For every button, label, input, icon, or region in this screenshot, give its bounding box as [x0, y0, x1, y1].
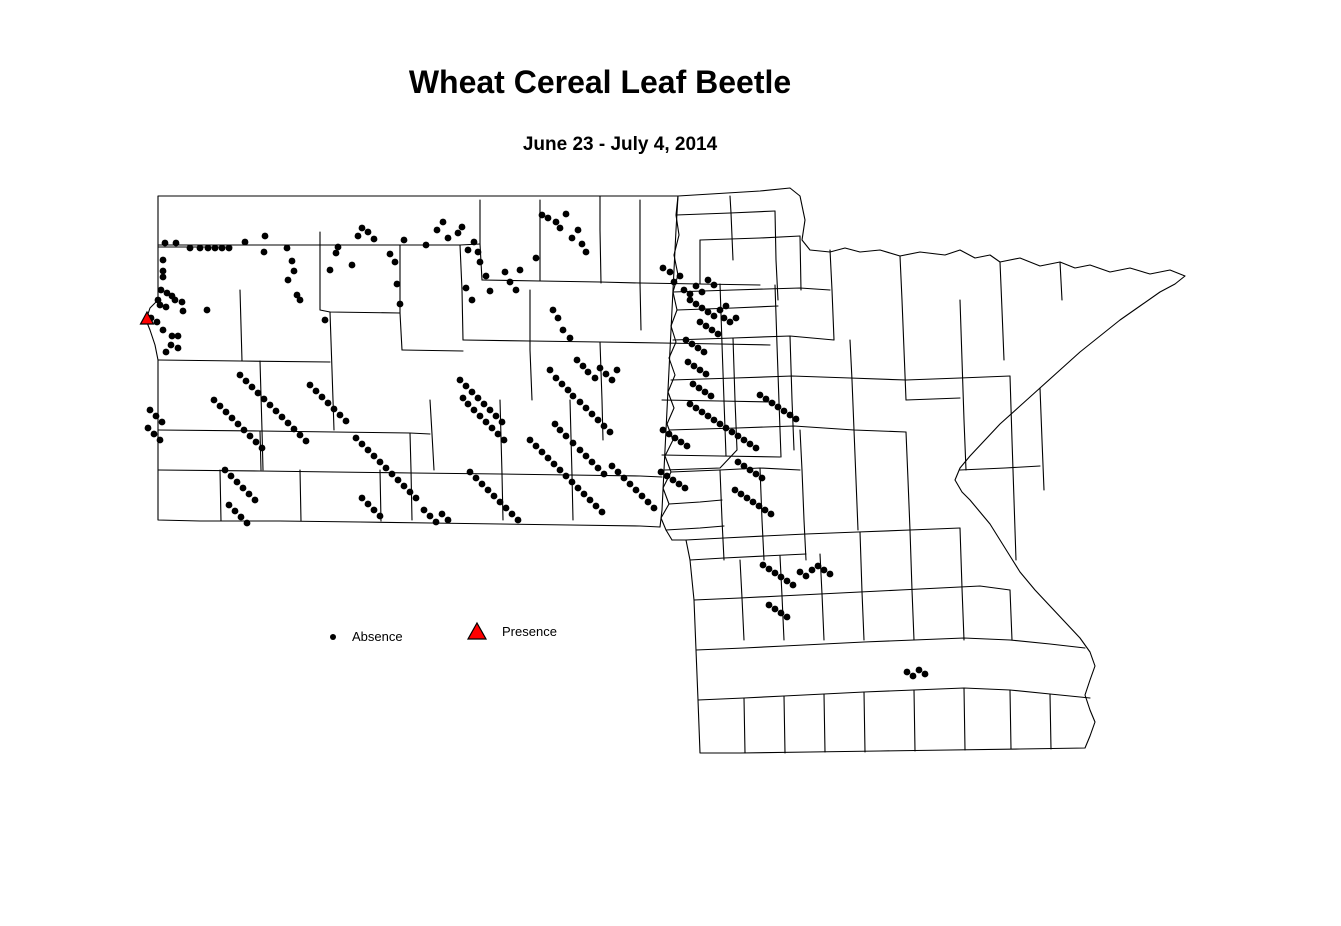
absence-marker — [371, 453, 378, 460]
map-graphic — [0, 0, 1341, 926]
absence-marker — [658, 469, 665, 476]
absence-marker — [587, 497, 594, 504]
absence-marker — [575, 227, 582, 234]
absence-marker — [423, 242, 430, 249]
absence-marker — [601, 471, 608, 478]
absence-marker — [475, 249, 482, 256]
absence-marker — [693, 405, 700, 412]
absence-marker — [285, 420, 292, 427]
absence-marker — [705, 277, 712, 284]
absence-marker — [502, 269, 509, 276]
absence-marker — [709, 327, 716, 334]
absence-marker — [585, 369, 592, 376]
absence-marker — [285, 277, 292, 284]
absence-marker — [570, 393, 577, 400]
absence-marker — [173, 240, 180, 247]
absence-marker — [759, 475, 766, 482]
absence-marker — [735, 433, 742, 440]
absence-marker — [503, 505, 510, 512]
absence-marker — [349, 262, 356, 269]
absence-marker — [371, 507, 378, 514]
absence-marker — [671, 279, 678, 286]
absence-marker — [732, 487, 739, 494]
absence-marker — [552, 421, 559, 428]
absence-marker — [234, 479, 241, 486]
absence-marker — [353, 435, 360, 442]
absence-marker — [569, 479, 576, 486]
absence-marker — [715, 331, 722, 338]
absence-marker — [169, 333, 176, 340]
presence-legend-icon — [466, 620, 488, 642]
absence-marker — [154, 319, 161, 326]
absence-marker — [168, 342, 175, 349]
absence-marker — [681, 287, 688, 294]
absence-marker — [705, 309, 712, 316]
absence-marker — [237, 372, 244, 379]
absence-marker — [589, 411, 596, 418]
absence-marker — [471, 407, 478, 414]
absence-marker — [570, 440, 577, 447]
absence-legend-icon — [330, 634, 336, 640]
absence-marker — [579, 241, 586, 248]
absence-marker — [211, 397, 218, 404]
absence-marker — [727, 319, 734, 326]
absence-marker — [205, 245, 212, 252]
absence-marker — [459, 224, 466, 231]
absence-marker — [784, 614, 791, 621]
absence-marker — [160, 327, 167, 334]
absence-marker — [527, 437, 534, 444]
absence-marker — [175, 333, 182, 340]
absence-marker — [235, 421, 242, 428]
absence-marker — [160, 274, 167, 281]
absence-marker — [463, 383, 470, 390]
map-canvas[interactable]: Absence Presence — [0, 0, 1341, 926]
state-county-outlines — [146, 188, 1185, 753]
absence-marker — [684, 443, 691, 450]
absence-marker — [545, 215, 552, 222]
absence-marker — [651, 505, 658, 512]
absence-marker — [469, 389, 476, 396]
absence-marker — [741, 437, 748, 444]
absence-marker — [229, 415, 236, 422]
absence-marker — [440, 219, 447, 226]
absence-marker — [583, 405, 590, 412]
absence-marker — [371, 236, 378, 243]
absence-marker — [355, 233, 362, 240]
absence-marker — [551, 461, 558, 468]
absence-marker — [395, 477, 402, 484]
absence-marker — [703, 371, 710, 378]
absence-marker — [778, 610, 785, 617]
absence-marker — [910, 673, 917, 680]
absence-marker — [664, 473, 671, 480]
absence-marker — [567, 335, 574, 342]
absence-marker — [160, 257, 167, 264]
absence-marker — [471, 239, 478, 246]
absence-marker — [533, 443, 540, 450]
absence-marker — [279, 414, 286, 421]
absence-marker — [493, 413, 500, 420]
absence-marker — [575, 485, 582, 492]
absence-marker — [555, 315, 562, 322]
absence-marker — [273, 408, 280, 415]
absence-marker — [153, 413, 160, 420]
absence-marker — [699, 289, 706, 296]
absence-marker — [297, 432, 304, 439]
absence-marker — [645, 499, 652, 506]
absence-marker — [577, 399, 584, 406]
absence-marker — [465, 401, 472, 408]
absence-marker — [678, 439, 685, 446]
absence-marker — [603, 371, 610, 378]
absence-marker — [565, 387, 572, 394]
absence-marker — [377, 459, 384, 466]
absence-marker — [696, 385, 703, 392]
absence-marker — [487, 288, 494, 295]
absence-marker — [589, 459, 596, 466]
absence-marker — [723, 303, 730, 310]
absence-marker — [481, 401, 488, 408]
absence-marker — [247, 433, 254, 440]
absence-marker — [747, 441, 754, 448]
absence-marker — [563, 211, 570, 218]
absence-marker — [475, 395, 482, 402]
absence-marker — [601, 423, 608, 430]
absence-marker — [455, 230, 462, 237]
absence-marker — [711, 282, 718, 289]
absence-marker — [772, 570, 779, 577]
absence-marker — [689, 341, 696, 348]
absence-marker — [243, 378, 250, 385]
absence-marker — [539, 212, 546, 219]
absence-marker — [477, 413, 484, 420]
absence-marker — [359, 225, 366, 232]
absence-marker — [485, 487, 492, 494]
absence-marker — [255, 390, 262, 397]
absence-marker — [760, 562, 767, 569]
absence-marker — [711, 313, 718, 320]
absence-marker — [593, 503, 600, 510]
absence-marker — [741, 463, 748, 470]
absence-marker — [427, 513, 434, 520]
absence-marker — [708, 393, 715, 400]
absence-marker — [327, 267, 334, 274]
absence-marker — [241, 427, 248, 434]
absence-marker — [495, 431, 502, 438]
absence-marker — [489, 425, 496, 432]
absence-marker — [158, 287, 165, 294]
absence-marker — [469, 297, 476, 304]
absence-marker — [775, 404, 782, 411]
absence-marker — [473, 475, 480, 482]
absence-marker — [377, 513, 384, 520]
absence-marker — [703, 323, 710, 330]
absence-marker — [827, 571, 834, 578]
absence-marker — [711, 417, 718, 424]
absence-marker — [660, 427, 667, 434]
absence-marker — [768, 511, 775, 518]
absence-marker — [497, 499, 504, 506]
absence-marker — [735, 459, 742, 466]
absence-marker — [778, 574, 785, 581]
absence-marker — [262, 233, 269, 240]
absence-marker — [756, 503, 763, 510]
absence-marker — [365, 229, 372, 236]
absence-marker — [592, 375, 599, 382]
absence-marker — [219, 245, 226, 252]
absence-marker — [179, 299, 186, 306]
absence-marker — [553, 375, 560, 382]
absence-marker — [609, 463, 616, 470]
absence-marker — [557, 467, 564, 474]
absence-marker — [557, 427, 564, 434]
absence-marker — [701, 349, 708, 356]
absence-marker — [699, 409, 706, 416]
absence-marker — [627, 481, 634, 488]
absence-marker — [187, 245, 194, 252]
absence-marker — [705, 413, 712, 420]
absence-marker — [337, 412, 344, 419]
absence-marker — [766, 602, 773, 609]
absence-marker — [226, 502, 233, 509]
absence-marker — [693, 301, 700, 308]
absence-marker — [595, 465, 602, 472]
absence-marker — [307, 382, 314, 389]
absence-marker — [162, 240, 169, 247]
absence-marker — [580, 363, 587, 370]
absence-marker — [557, 225, 564, 232]
absence-marker — [738, 491, 745, 498]
absence-marker — [685, 359, 692, 366]
absence-marker — [259, 445, 266, 452]
absence-marker — [434, 227, 441, 234]
absence-marker — [677, 273, 684, 280]
absence-marker — [479, 481, 486, 488]
absence-marker — [333, 250, 340, 257]
absence-marker — [483, 419, 490, 426]
absence-marker — [217, 403, 224, 410]
absence-marker — [787, 412, 794, 419]
absence-marker — [483, 273, 490, 280]
absence-marker — [401, 483, 408, 490]
absence-marker — [222, 467, 229, 474]
absence-marker — [487, 407, 494, 414]
absence-marker — [721, 315, 728, 322]
absence-marker — [750, 499, 757, 506]
absence-marker — [747, 467, 754, 474]
absence-marker — [784, 578, 791, 585]
absence-marker — [615, 469, 622, 476]
absence-marker — [691, 363, 698, 370]
absence-marker — [457, 377, 464, 384]
absence-marker — [147, 407, 154, 414]
absence-marker — [672, 435, 679, 442]
absence-marker — [821, 567, 828, 574]
absence-marker — [325, 400, 332, 407]
absence-marker — [545, 455, 552, 462]
absence-marker — [815, 563, 822, 570]
absence-marker — [683, 337, 690, 344]
absence-marker — [501, 437, 508, 444]
absence-marker — [583, 249, 590, 256]
absence-marker — [157, 437, 164, 444]
absence-marker — [702, 389, 709, 396]
absence-marker — [577, 447, 584, 454]
absence-marker — [151, 431, 158, 438]
absence-marker — [803, 573, 810, 580]
absence-marker — [609, 377, 616, 384]
absence-marker — [733, 315, 740, 322]
absence-marker — [297, 297, 304, 304]
absence-marker — [513, 287, 520, 294]
absence-marker — [781, 408, 788, 415]
absence-marker — [693, 283, 700, 290]
absence-marker — [477, 259, 484, 266]
absence-marker — [465, 247, 472, 254]
absence-marker — [359, 495, 366, 502]
absence-marker — [232, 508, 239, 515]
absence-marker — [421, 507, 428, 514]
absence-marker — [267, 402, 274, 409]
absence-marker — [763, 396, 770, 403]
absence-marker — [445, 235, 452, 242]
absence-marker — [699, 305, 706, 312]
absence-marker — [331, 406, 338, 413]
absence-marker — [180, 308, 187, 315]
absence-marker — [559, 381, 566, 388]
absence-marker — [392, 259, 399, 266]
absence-marker — [172, 297, 179, 304]
absence-marker — [159, 419, 166, 426]
absence-marker — [413, 495, 420, 502]
absence-marker — [163, 304, 170, 311]
presence-legend-label: Presence — [502, 624, 557, 639]
absence-marker — [717, 421, 724, 428]
absence-marker — [922, 671, 929, 678]
absence-marker — [687, 291, 694, 298]
absence-marker — [291, 426, 298, 433]
absence-marker — [261, 249, 268, 256]
absence-marker — [433, 519, 440, 526]
absence-marker — [242, 239, 249, 246]
absence-marker — [676, 481, 683, 488]
absence-marker — [723, 425, 730, 432]
absence-marker — [261, 396, 268, 403]
absence-marker — [491, 493, 498, 500]
absence-marker — [744, 495, 751, 502]
absence-marker — [335, 244, 342, 251]
absence-marker — [904, 669, 911, 676]
absence-marker — [160, 268, 167, 275]
absence-marker — [633, 487, 640, 494]
absence-marker — [687, 401, 694, 408]
absence-marker — [319, 394, 326, 401]
absence-marker — [687, 297, 694, 304]
absence-marker — [383, 465, 390, 472]
absence-marker — [509, 511, 516, 518]
absence-marker — [547, 367, 554, 374]
absence-marker — [717, 307, 724, 314]
absence-marker — [563, 433, 570, 440]
absence-marker — [157, 302, 164, 309]
absence-marker — [597, 365, 604, 372]
absence-marker — [387, 251, 394, 258]
absence-marker — [313, 388, 320, 395]
absence-marker — [244, 520, 251, 527]
absence-marker — [560, 327, 567, 334]
absence-marker — [533, 255, 540, 262]
absence-marker — [175, 345, 182, 352]
absence-marker — [467, 469, 474, 476]
absence-marker — [621, 475, 628, 482]
absence-marker — [253, 439, 260, 446]
absence-marker — [252, 497, 259, 504]
absence-marker — [507, 279, 514, 286]
absence-marker — [163, 349, 170, 356]
absence-marker — [793, 416, 800, 423]
absence-marker — [666, 431, 673, 438]
absence-marker — [599, 509, 606, 516]
absence-marker — [539, 449, 546, 456]
absence-marker — [607, 429, 614, 436]
absence-marker — [553, 219, 560, 226]
absence-marker — [667, 269, 674, 276]
absence-marker — [322, 317, 329, 324]
absence-marker — [397, 301, 404, 308]
absence-marker — [729, 429, 736, 436]
absence-marker — [343, 418, 350, 425]
absence-marker — [797, 569, 804, 576]
absence-marker — [670, 477, 677, 484]
absence-marker — [284, 245, 291, 252]
absence-marker — [517, 267, 524, 274]
absence-marker — [212, 245, 219, 252]
absence-marker — [515, 517, 522, 524]
absence-marker — [226, 245, 233, 252]
absence-marker — [389, 471, 396, 478]
absence-marker — [445, 517, 452, 524]
absence-marker — [695, 345, 702, 352]
absence-marker — [639, 493, 646, 500]
absence-marker — [790, 582, 797, 589]
absence-marker — [246, 491, 253, 498]
absence-marker — [291, 268, 298, 275]
absence-marker — [401, 237, 408, 244]
map-page: Wheat Cereal Leaf Beetle June 23 - July … — [0, 0, 1341, 926]
absence-marker — [753, 445, 760, 452]
absence-marker — [563, 473, 570, 480]
absence-legend-label: Absence — [352, 629, 403, 644]
absence-marker — [753, 471, 760, 478]
absence-marker — [407, 489, 414, 496]
absence-marker — [660, 265, 667, 272]
absence-marker — [240, 485, 247, 492]
absence-marker — [757, 392, 764, 399]
absence-marker — [439, 511, 446, 518]
absence-marker — [690, 381, 697, 388]
absence-marker — [772, 606, 779, 613]
absence-marker — [595, 417, 602, 424]
absence-marker — [394, 281, 401, 288]
absence-marker — [249, 384, 256, 391]
absence-marker — [697, 367, 704, 374]
absence-marker — [197, 245, 204, 252]
absence-marker — [289, 258, 296, 265]
absence-marker — [569, 235, 576, 242]
absence-marker — [228, 473, 235, 480]
absence-marker — [550, 307, 557, 314]
